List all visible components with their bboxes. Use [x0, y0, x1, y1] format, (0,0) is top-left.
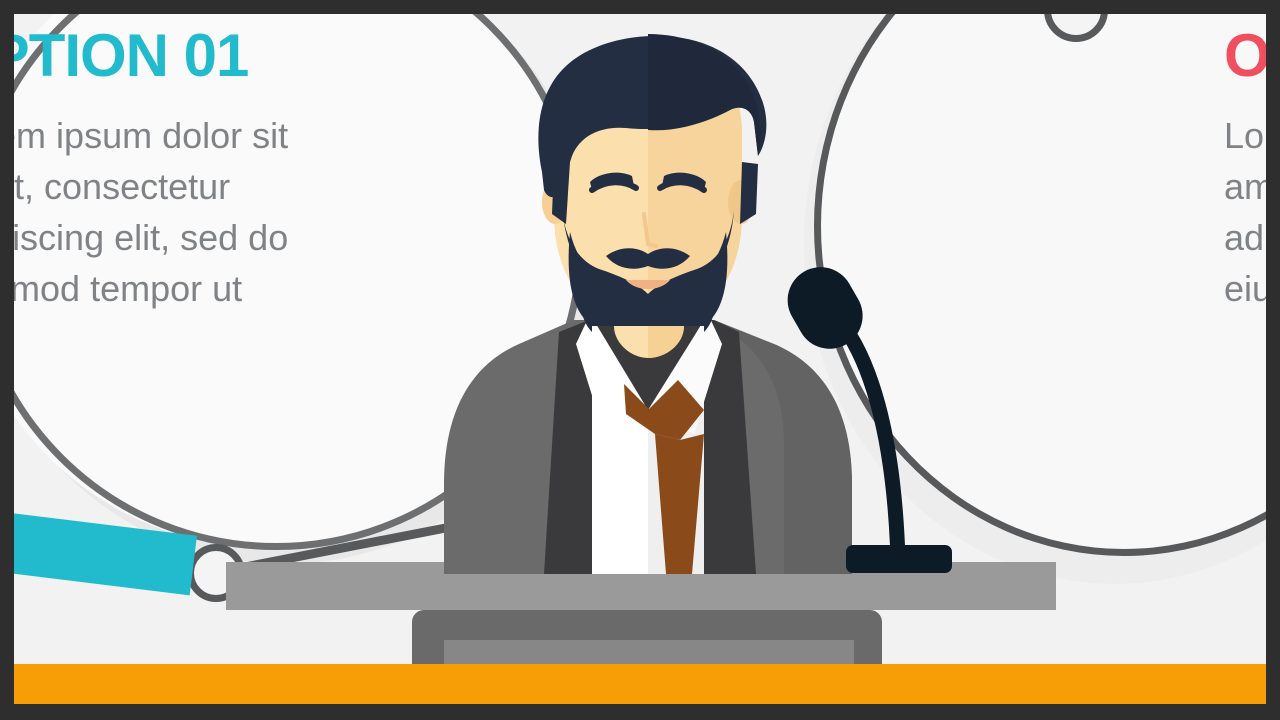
- slide-canvas: OPTION 01 Lorem ipsum dolor sit amet, co…: [14, 14, 1266, 704]
- slide-frame: OPTION 01 Lorem ipsum dolor sit amet, co…: [0, 0, 1280, 720]
- mic-gooseneck: [834, 314, 898, 559]
- orange-footer-band: [14, 664, 1266, 704]
- microphone: [14, 14, 1266, 704]
- mic-base: [846, 545, 952, 573]
